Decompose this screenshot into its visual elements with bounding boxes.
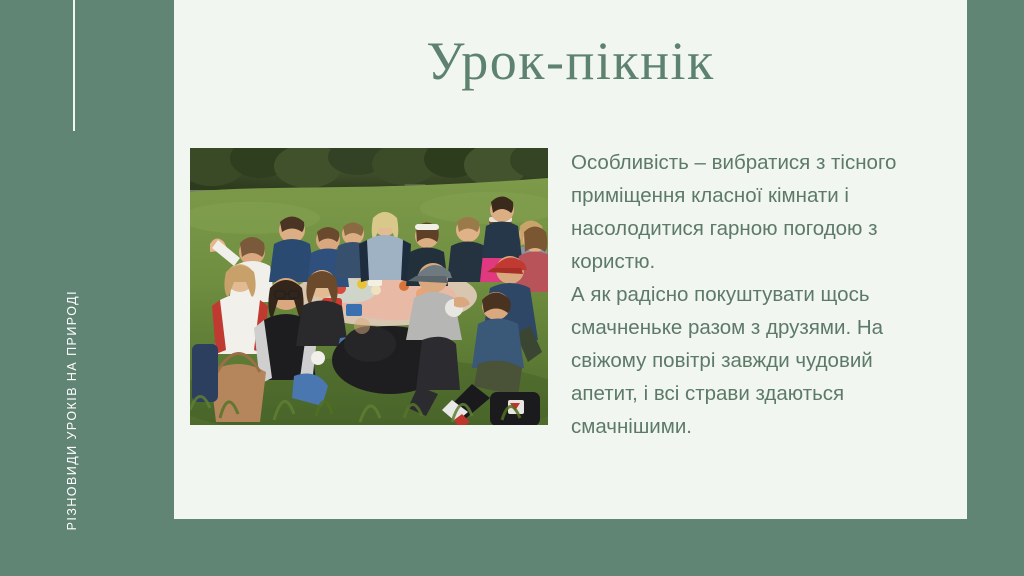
sidebar-caption-label: РІЗНОВИДИ УРОКІВ НА ПРИРОДІ xyxy=(66,290,79,530)
content-panel: Урок-пікнік xyxy=(174,0,967,519)
picnic-photo xyxy=(190,148,548,425)
page-title: Урок-пікнік xyxy=(174,30,967,92)
body-paragraph-2: А як радісно покуштувати щось смачненьке… xyxy=(571,278,943,443)
body-text: Особливість – вибратися з тісного приміщ… xyxy=(571,146,943,443)
picnic-photo-image xyxy=(190,148,548,425)
accent-rule-divider xyxy=(73,0,75,131)
slide-canvas: РІЗНОВИДИ УРОКІВ НА ПРИРОДІ Урок-пікнік xyxy=(0,0,1024,576)
body-paragraph-1: Особливість – вибратися з тісного приміщ… xyxy=(571,146,943,278)
sidebar-caption: РІЗНОВИДИ УРОКІВ НА ПРИРОДІ xyxy=(0,0,140,576)
